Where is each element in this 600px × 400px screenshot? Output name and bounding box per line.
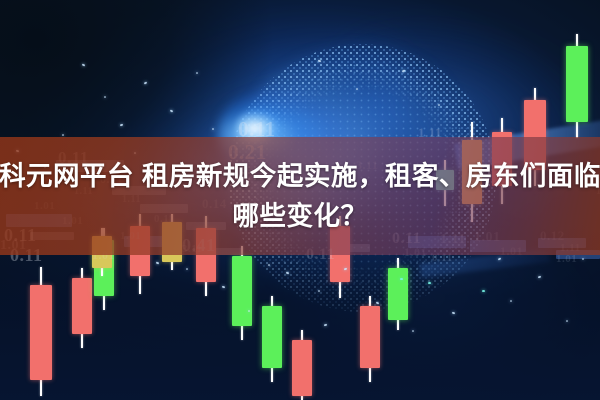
candlestick — [388, 258, 408, 330]
headline-line-2: 哪些变化？ — [233, 199, 368, 233]
candlestick — [232, 246, 252, 340]
headline-block: 科元网平台 租房新规今起实施，租客、房东们面临 哪些变化？ — [0, 137, 600, 255]
news-banner: 0.110.110.111.011.011.011.111.111.010.21… — [0, 0, 600, 400]
candlestick — [360, 296, 380, 382]
candlestick — [262, 296, 282, 382]
candlestick — [30, 267, 52, 396]
candlestick — [72, 268, 92, 348]
headline-line-1: 科元网平台 租房新规今起实施，租客、房东们面临 — [0, 159, 600, 193]
candlestick — [566, 34, 588, 138]
candlestick — [292, 330, 312, 400]
